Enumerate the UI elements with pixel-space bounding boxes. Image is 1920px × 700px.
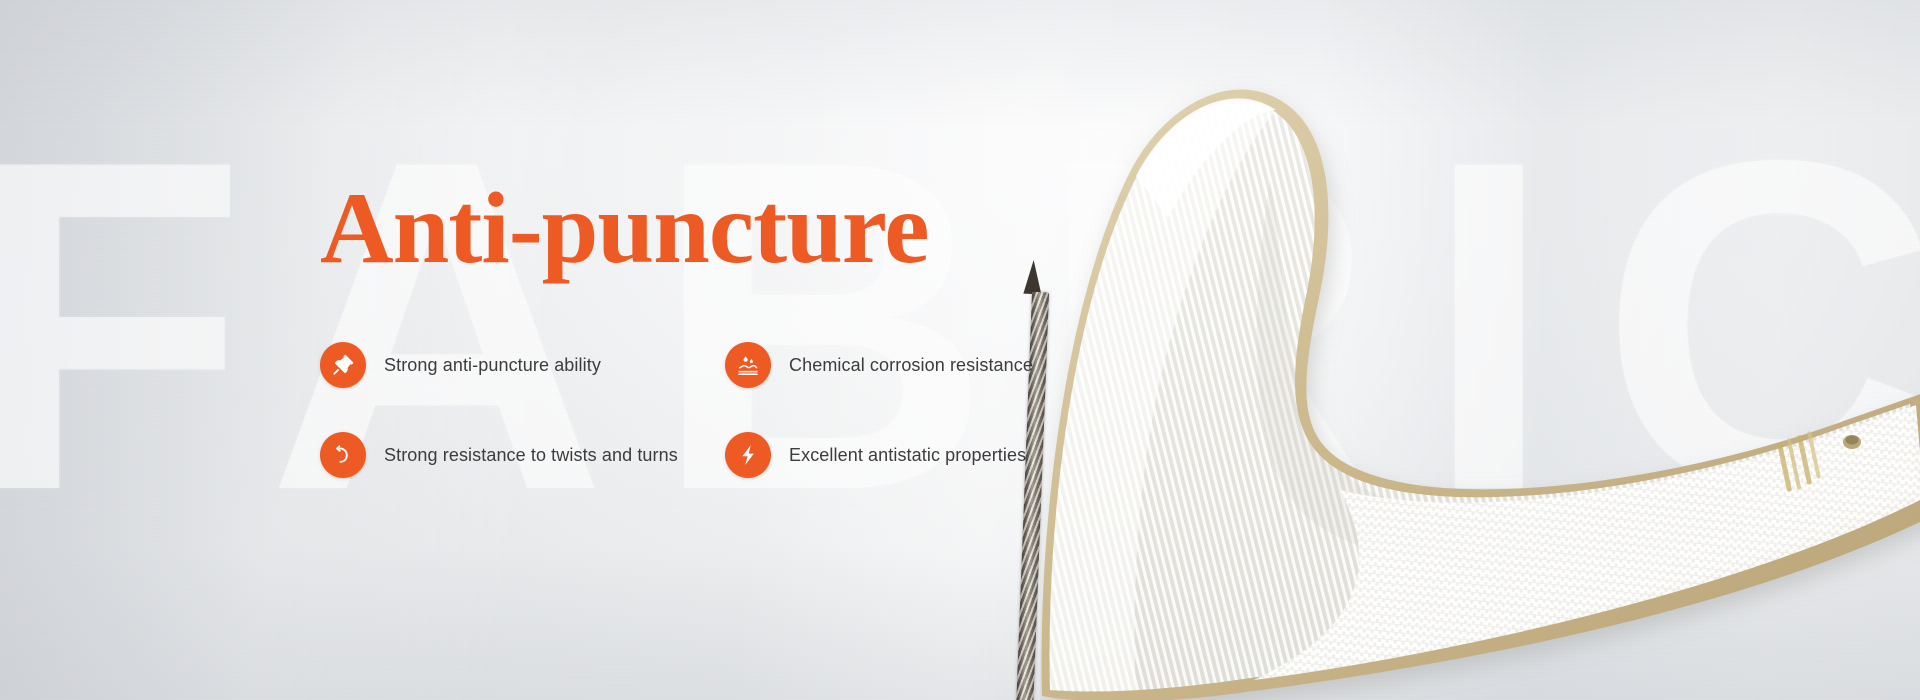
fabric-knit-texture	[1240, 390, 1920, 700]
anti-puncture-banner: FABRIC	[0, 0, 1920, 700]
banner-content: Anti-puncture Strong anti-puncture abili…	[320, 178, 1080, 478]
fabric-eyelet-inner	[1846, 435, 1859, 444]
lightning-bolt-icon	[725, 432, 771, 478]
page-title: Anti-puncture	[320, 178, 1080, 280]
feature-label: Strong resistance to twists and turns	[384, 445, 678, 466]
feature-label: Strong anti-puncture ability	[384, 355, 601, 376]
fabric-strip-svg	[1040, 60, 1920, 700]
fabric-eyelet-hole	[1843, 435, 1861, 449]
feature-label: Excellent antistatic properties	[789, 445, 1026, 466]
feature-list: Strong anti-puncture ability Chemical co…	[320, 342, 1080, 478]
feature-item-antistatic[interactable]: Excellent antistatic properties	[725, 432, 1130, 478]
water-drop-surface-icon	[725, 342, 771, 388]
fabric-rib-texture	[1040, 60, 1920, 700]
twist-arrow-icon	[320, 432, 366, 478]
product-photo	[1040, 60, 1920, 700]
feature-item-chemical-corrosion[interactable]: Chemical corrosion resistance	[725, 342, 1130, 388]
feature-item-twist-resistance[interactable]: Strong resistance to twists and turns	[320, 432, 725, 478]
fabric-body	[1050, 101, 1918, 692]
fabric-highlight	[1136, 98, 1276, 218]
pushpin-icon	[320, 342, 366, 388]
fabric-edge-binding	[1042, 89, 1920, 700]
feature-item-anti-puncture[interactable]: Strong anti-puncture ability	[320, 342, 725, 388]
fabric-strip	[1040, 60, 1920, 700]
feature-label: Chemical corrosion resistance	[789, 355, 1033, 376]
screw-right	[1100, 352, 1133, 700]
fabric-gold-marking	[1777, 431, 1821, 492]
